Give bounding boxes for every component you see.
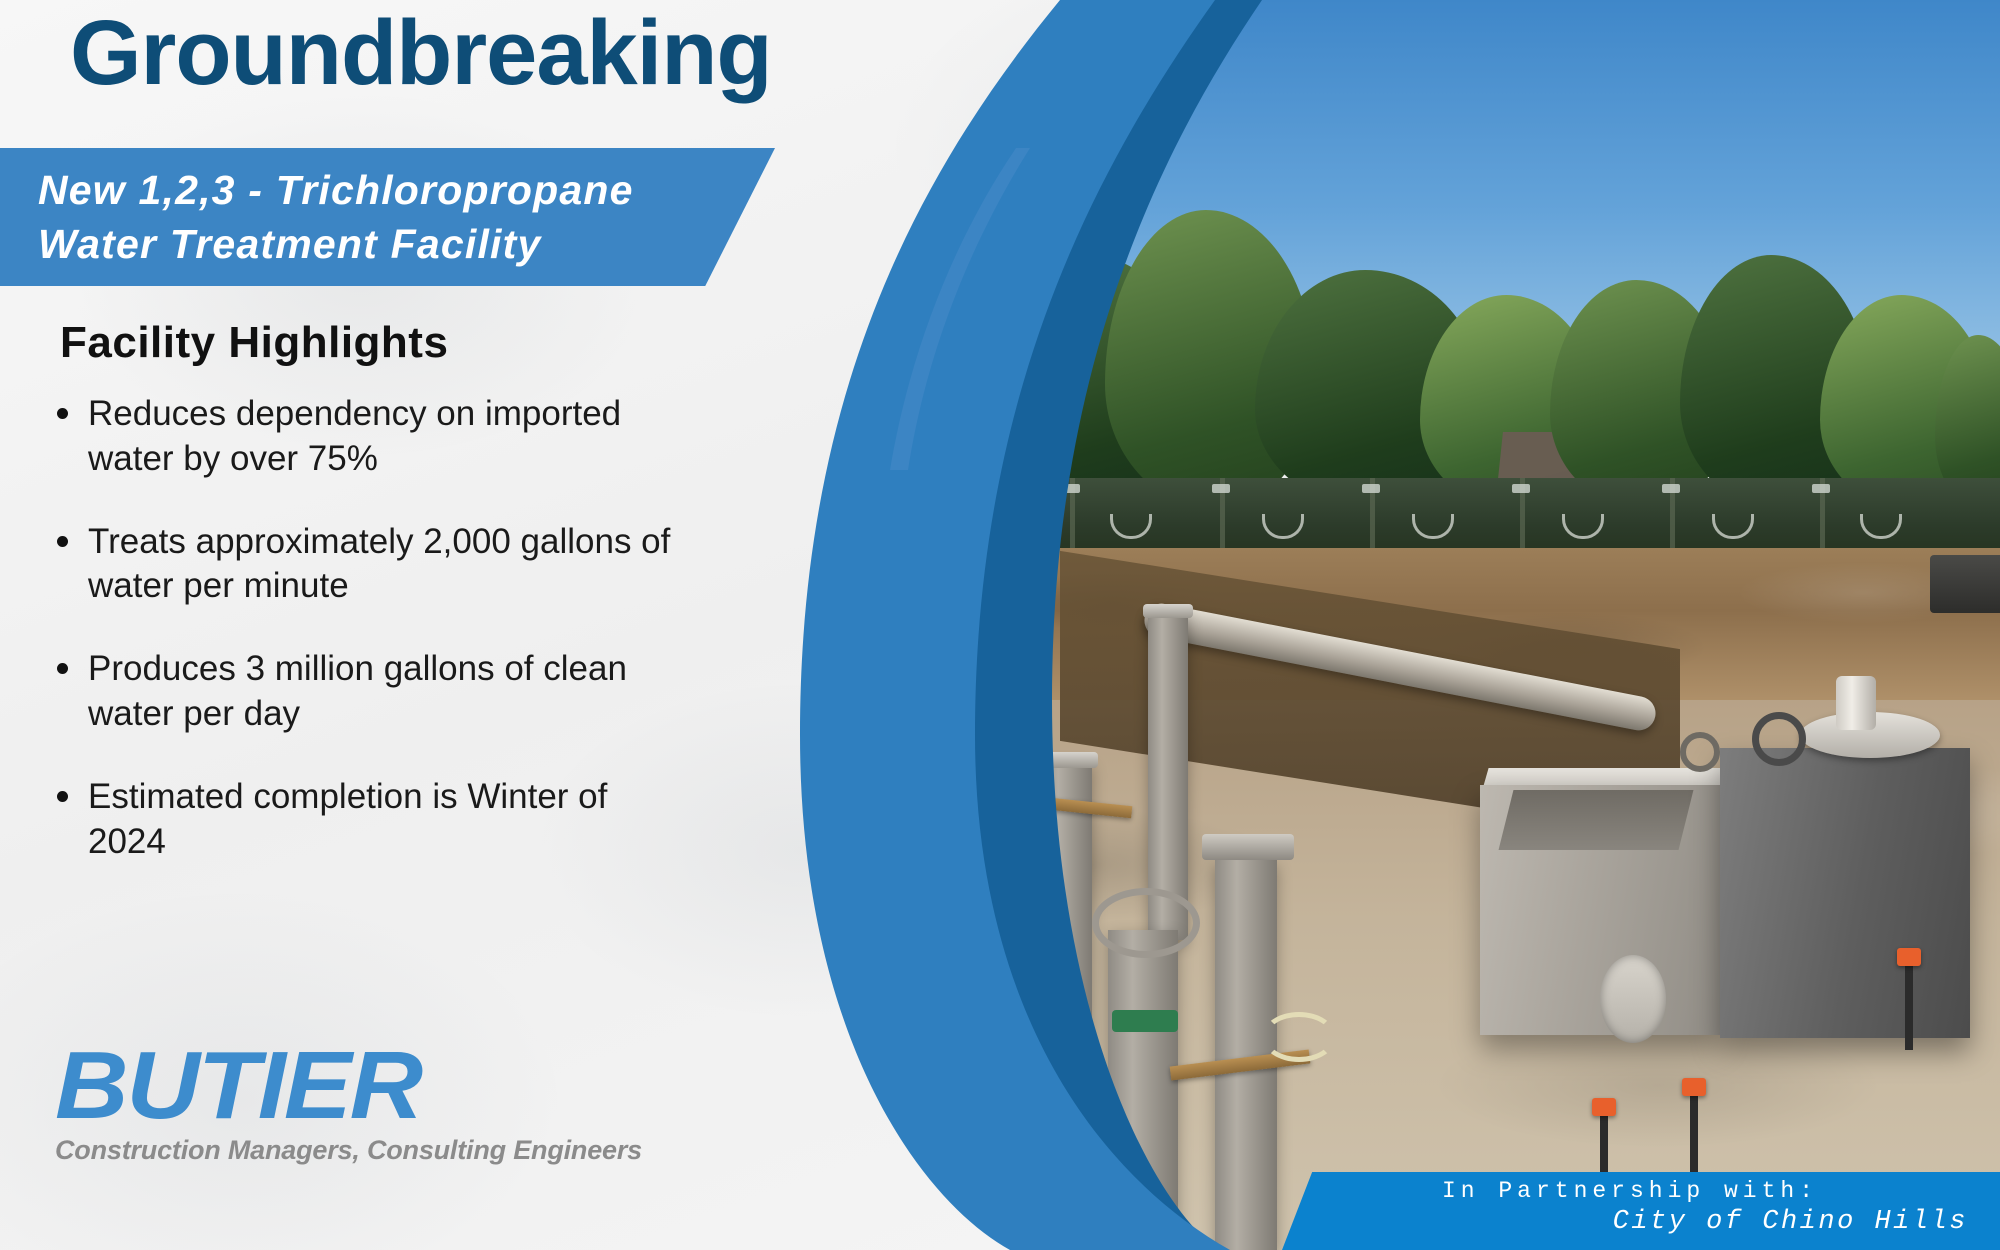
enclosure-cylinder <box>1836 676 1876 730</box>
stake-cap <box>1592 1098 1616 1116</box>
concrete-column <box>990 560 1016 810</box>
poster-canvas: Groundbreaking New 1,2,3 - Trichloroprop… <box>0 0 2000 1250</box>
concrete-column <box>945 640 975 940</box>
vault-interior <box>1499 790 1694 850</box>
equipment-enclosure <box>1720 748 1970 1038</box>
butier-wordmark: BUTIER <box>55 1040 712 1131</box>
partnership-name: City of Chino Hills <box>1282 1207 1968 1237</box>
pipe-ring <box>1092 888 1200 958</box>
list-item: Reduces dependency on imported water by … <box>48 392 678 482</box>
tree-line <box>860 150 2000 510</box>
butier-logo: BUTIER Construction Managers, Consulting… <box>55 1040 675 1166</box>
partnership-label: In Partnership with: <box>1282 1178 1968 1204</box>
list-item: Produces 3 million gallons of clean wate… <box>48 647 678 737</box>
stake-cap <box>1897 948 1921 966</box>
survey-stake <box>1905 960 1913 1050</box>
subtitle-banner: New 1,2,3 - Trichloropropane Water Treat… <box>0 148 775 286</box>
butier-tagline: Construction Managers, Consulting Engine… <box>55 1135 675 1166</box>
list-item: Estimated completion is Winter of 2024 <box>48 775 678 865</box>
facility-highlights-heading: Facility Highlights <box>60 318 448 368</box>
vault-opening <box>1600 955 1666 1043</box>
concrete-column <box>1108 930 1178 1250</box>
stake-cap <box>1682 1078 1706 1096</box>
page-title: Groundbreaking <box>70 5 772 102</box>
construction-fence <box>860 478 2000 558</box>
facility-highlights-list: Reduces dependency on imported water by … <box>48 392 678 902</box>
pipe-ring <box>1680 732 1720 772</box>
partnership-bar: In Partnership with: City of Chino Hills <box>1282 1172 2000 1250</box>
subtitle-line-2: Water Treatment Facility <box>38 217 775 271</box>
excavator <box>1930 555 2000 613</box>
list-item: Treats approximately 2,000 gallons of wa… <box>48 520 678 610</box>
subtitle-line-1: New 1,2,3 - Trichloropropane <box>38 163 775 217</box>
pipe-ring <box>1752 712 1806 766</box>
